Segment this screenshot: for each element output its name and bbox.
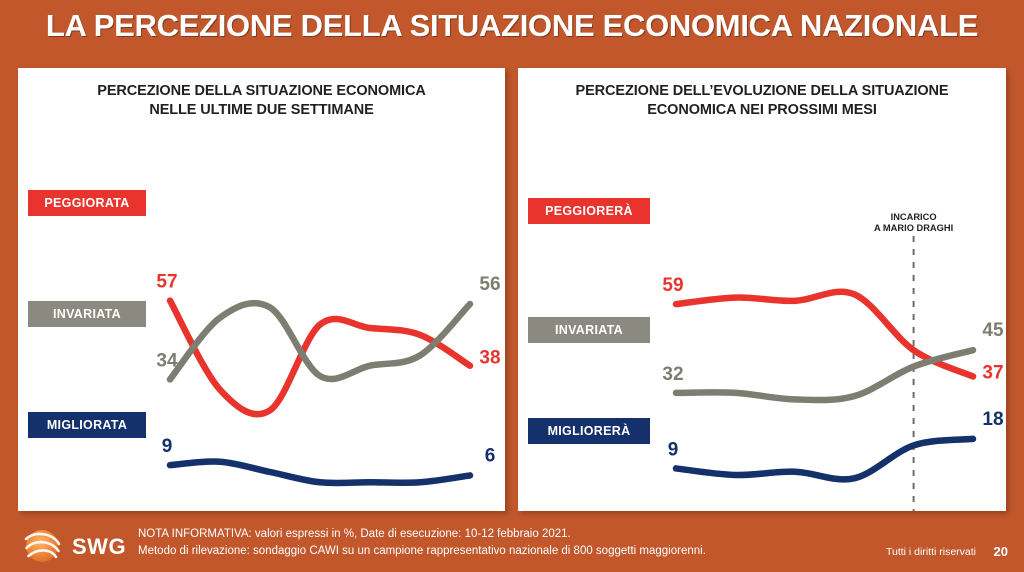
footer-note: NOTA INFORMATIVA: valori espressi in %, …: [138, 526, 706, 560]
event-marker-label-line1: INCARICO: [891, 212, 937, 222]
swg-logo-text: SWG: [72, 534, 126, 560]
end-value-label: 6: [485, 445, 496, 466]
swg-logo: SWG: [20, 526, 135, 566]
footer-note-line2: Metodo di rilevazione: sondaggio CAWI su…: [138, 543, 706, 560]
end-value-label: 37: [982, 362, 1003, 383]
page-number: 20: [994, 544, 1008, 559]
series-line-migliorata: [170, 462, 470, 484]
footer-note-line1: NOTA INFORMATIVA: valori espressi in %, …: [138, 526, 706, 543]
chart-card-left: PERCEZIONE DELLA SITUAZIONE ECONOMICA NE…: [18, 68, 505, 511]
start-value-label: 59: [662, 275, 683, 296]
series-line-migliorerà: [676, 439, 973, 480]
end-value-label: 56: [479, 274, 500, 295]
line-chart-left: maggio2020luglio2020settembre2020ottobre…: [18, 68, 505, 511]
end-value-label: 45: [982, 320, 1004, 341]
start-value-label: 34: [156, 350, 178, 371]
footer: SWG NOTA INFORMATIVA: valori espressi in…: [0, 516, 1024, 572]
end-value-label: 18: [982, 409, 1003, 430]
line-chart-right: INCARICOA MARIO DRAGHI8 gen202115 gen202…: [518, 68, 1006, 511]
event-marker-label-line2: A MARIO DRAGHI: [874, 223, 953, 233]
page-title: LA PERCEZIONE DELLA SITUAZIONE ECONOMICA…: [0, 8, 1024, 44]
start-value-label: 9: [162, 436, 173, 457]
chart-card-right: PERCEZIONE DELL’EVOLUZIONE DELLA SITUAZI…: [518, 68, 1006, 511]
start-value-label: 32: [662, 364, 683, 385]
series-line-invariata: [170, 303, 470, 379]
start-value-label: 57: [156, 272, 177, 293]
footer-rights: Tutti i diritti riservati: [886, 546, 976, 558]
end-value-label: 38: [479, 348, 500, 369]
start-value-label: 9: [668, 439, 679, 460]
